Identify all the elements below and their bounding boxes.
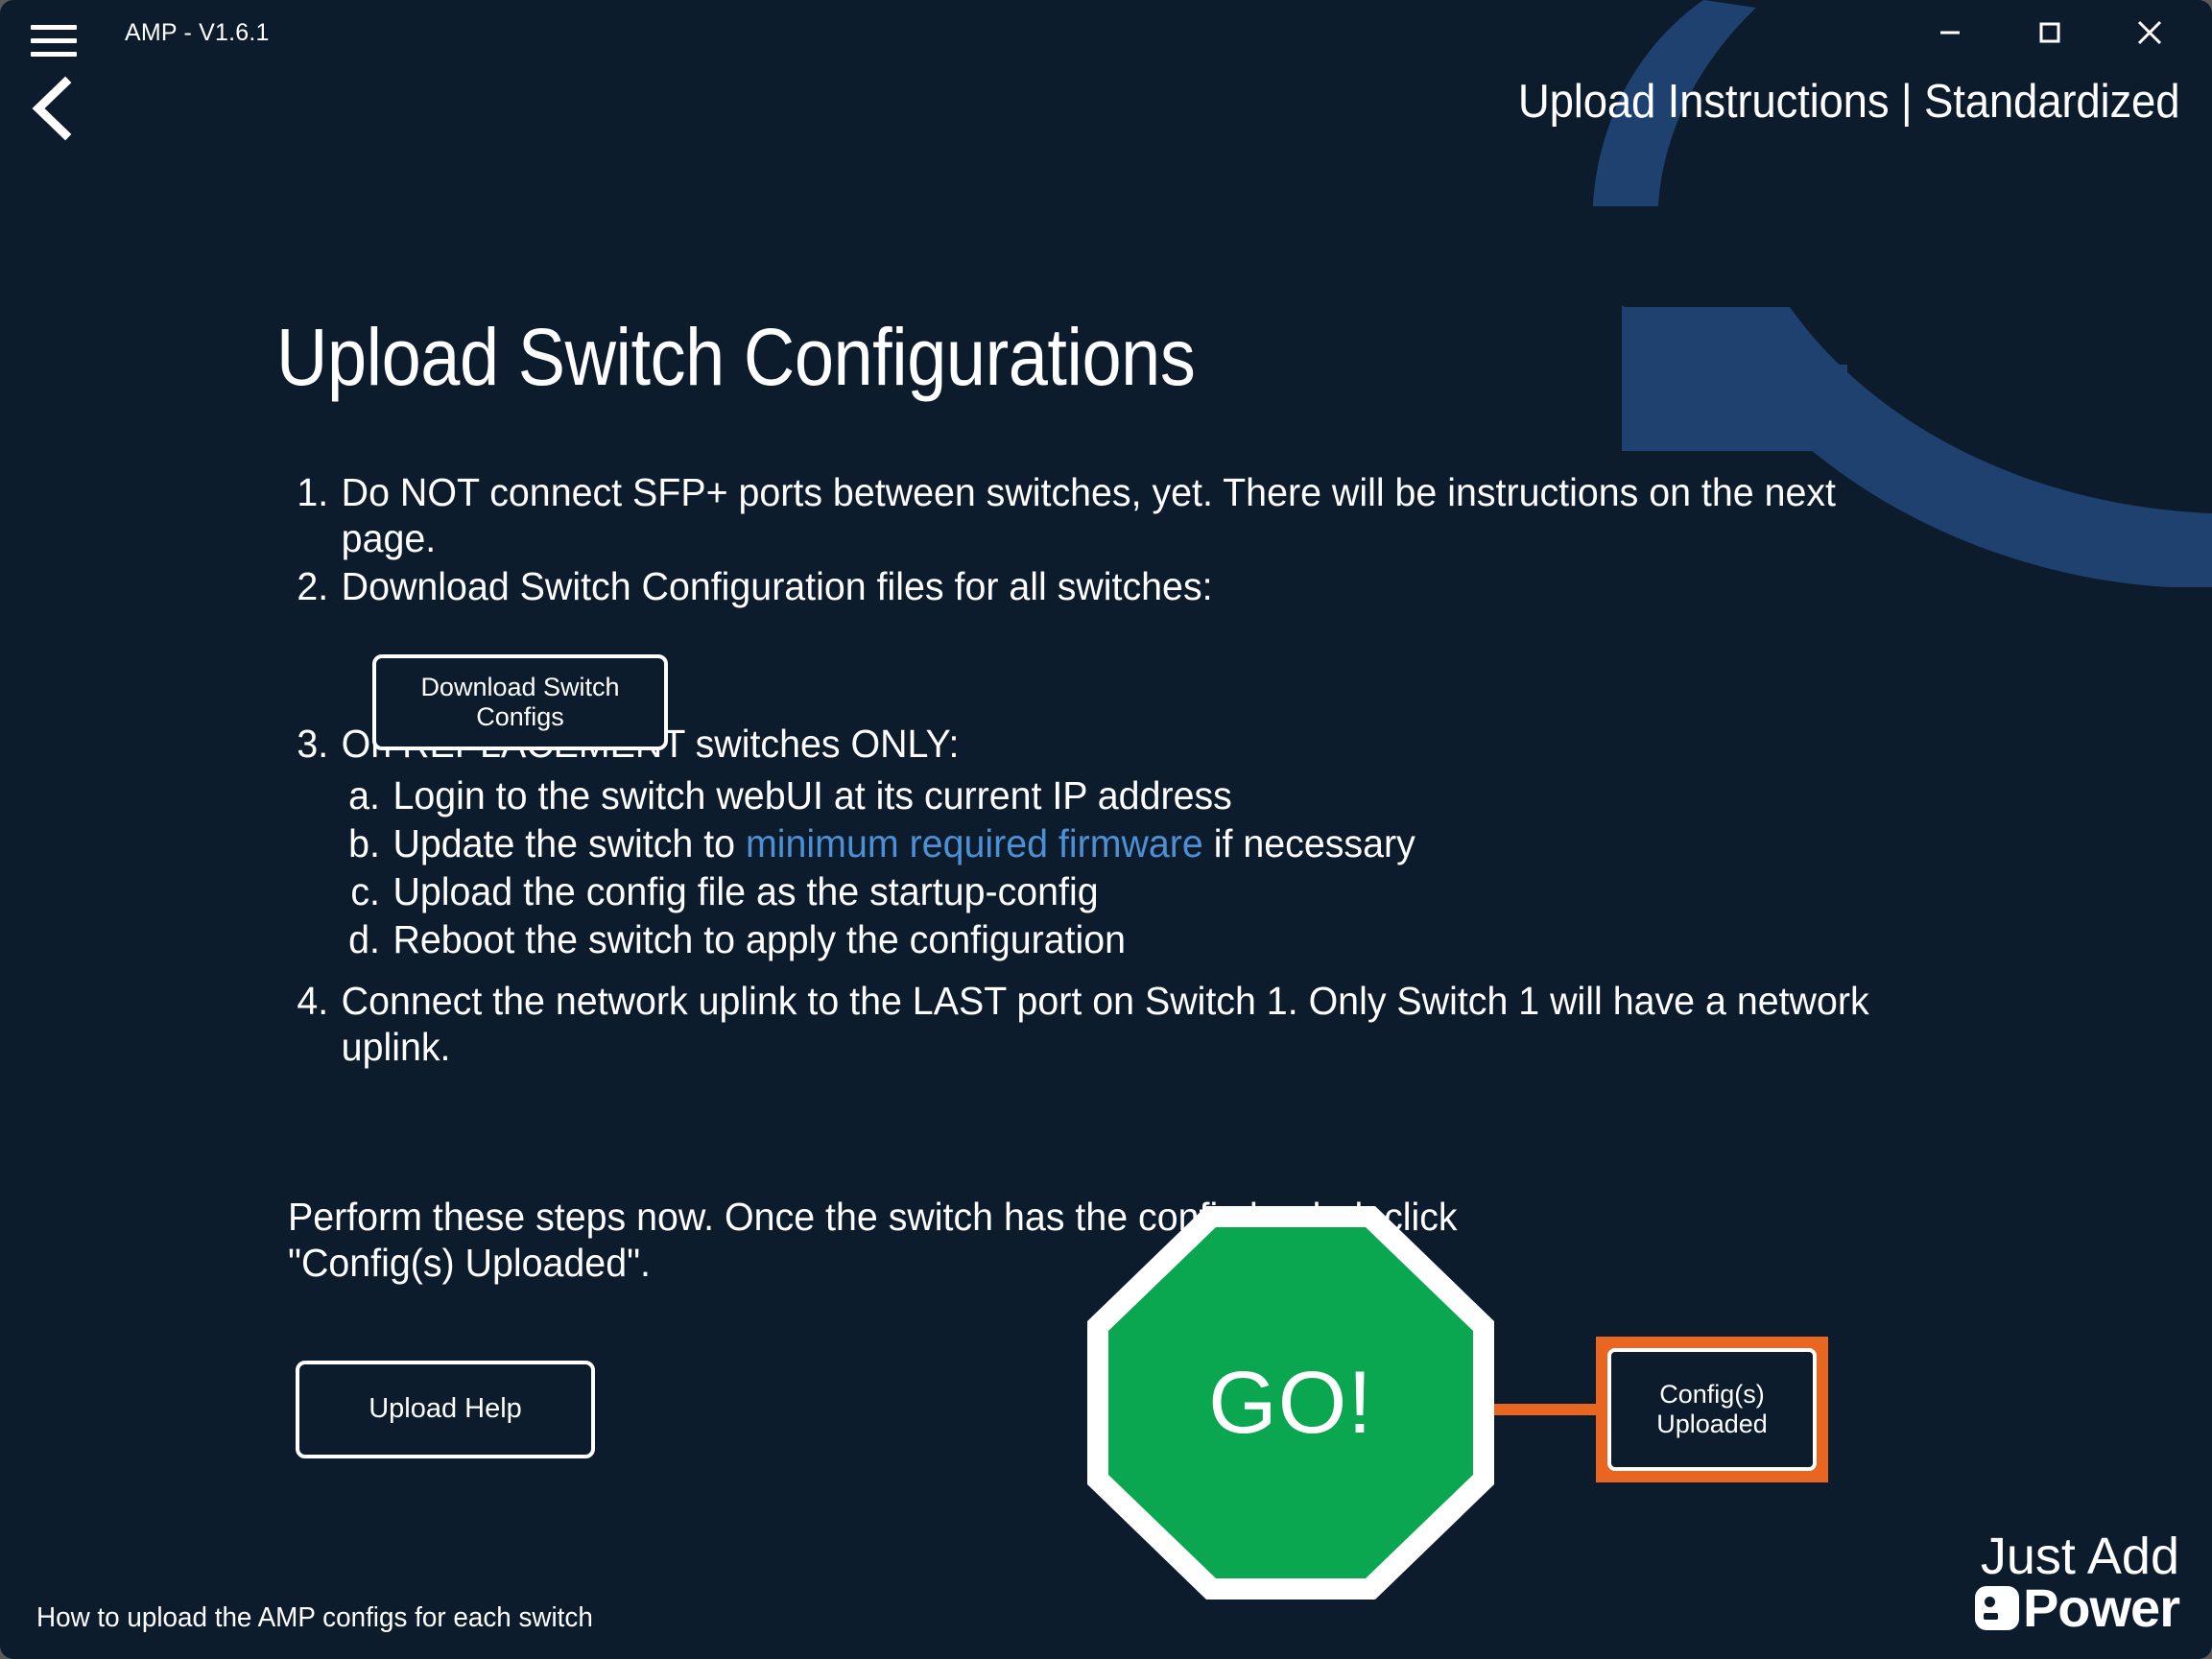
- step-number: 1.: [288, 470, 342, 562]
- hamburger-bar: [31, 52, 77, 57]
- list-item: 4. Connect the network uplink to the LAS…: [288, 979, 1910, 1071]
- application-window: AMP - V1.6.1 Upload Instructions | Stand…: [0, 0, 2212, 1659]
- page-title: Upload Switch Configurations: [276, 317, 1195, 397]
- power-outlet-icon: [1975, 1586, 2019, 1630]
- substep-number: b.: [345, 821, 393, 867]
- substep-text: Reboot the switch to apply the configura…: [392, 917, 1909, 963]
- configs-uploaded-button[interactable]: Config(s) Uploaded: [1607, 1348, 1817, 1471]
- callout-connector-line: [1492, 1404, 1600, 1415]
- list-item: d. Reboot the switch to apply the config…: [345, 917, 1910, 963]
- brand-line-1: Just Add: [1975, 1532, 2179, 1582]
- substep-text: Login to the switch webUI at its current…: [392, 773, 1909, 819]
- chevron-left-icon[interactable]: [25, 75, 83, 142]
- list-item: 2. Download Switch Configuration files f…: [288, 564, 1910, 610]
- close-icon[interactable]: [2118, 8, 2181, 58]
- step-number: 2.: [288, 564, 342, 610]
- step-number: 4.: [288, 979, 342, 1071]
- list-item: a. Login to the switch webUI at its curr…: [345, 773, 1910, 819]
- hamburger-bar: [31, 38, 77, 43]
- maximize-icon[interactable]: [2018, 8, 2081, 58]
- brand-line-2: Power: [1975, 1582, 2179, 1634]
- just-add-power-logo: Just Add Power: [1975, 1532, 2179, 1634]
- substep-number: a.: [345, 773, 393, 819]
- list-item: b. Update the switch to minimum required…: [345, 821, 1910, 867]
- brand-line-2-text: Power: [2023, 1582, 2179, 1634]
- step-text: Connect the network uplink to the LAST p…: [342, 979, 1910, 1071]
- step-text: Do NOT connect SFP+ ports between switch…: [342, 470, 1910, 562]
- instruction-list: 1. Do NOT connect SFP+ ports between swi…: [288, 470, 1910, 1073]
- substep-text: Upload the config file as the startup-co…: [392, 869, 1909, 915]
- step-text: Download Switch Configuration files for …: [342, 564, 1910, 610]
- substep-number: d.: [345, 917, 393, 963]
- upload-help-button[interactable]: Upload Help: [296, 1361, 595, 1458]
- step-number: 3.: [288, 722, 342, 768]
- substep-text: Update the switch to minimum required fi…: [392, 821, 1909, 867]
- footer-caption: How to upload the AMP configs for each s…: [36, 1602, 593, 1634]
- substep-number: c.: [345, 869, 393, 915]
- title-bar: AMP - V1.6.1: [0, 0, 2212, 79]
- configs-uploaded-highlight: Config(s) Uploaded: [1596, 1337, 1828, 1482]
- download-button-label: Download Switch Configs: [420, 673, 619, 732]
- substep-text-before: Update the switch to: [392, 821, 746, 865]
- page-breadcrumb: Upload Instructions | Standardized: [1518, 75, 2179, 129]
- substep-text-after: if necessary: [1203, 821, 1415, 865]
- go-stop-sign-graphic: GO!: [1087, 1206, 1494, 1600]
- download-switch-configs-button[interactable]: Download Switch Configs: [372, 654, 668, 750]
- download-button-label-line-2: Configs: [420, 702, 619, 732]
- list-item: c. Upload the config file as the startup…: [345, 869, 1910, 915]
- list-item: 1. Do NOT connect SFP+ ports between swi…: [288, 470, 1910, 562]
- minimize-icon[interactable]: [1918, 8, 1982, 58]
- app-title: AMP - V1.6.1: [125, 19, 270, 47]
- spacer: [288, 965, 1910, 979]
- minimum-firmware-link[interactable]: minimum required firmware: [746, 821, 1203, 865]
- sub-instruction-list: a. Login to the switch webUI at its curr…: [345, 773, 1910, 963]
- main-content: Upload Switch Configurations 1. Do NOT c…: [0, 0, 2212, 1659]
- download-button-label-line-1: Download Switch: [420, 673, 619, 702]
- hamburger-menu-icon[interactable]: [31, 17, 81, 63]
- hamburger-bar: [31, 25, 77, 30]
